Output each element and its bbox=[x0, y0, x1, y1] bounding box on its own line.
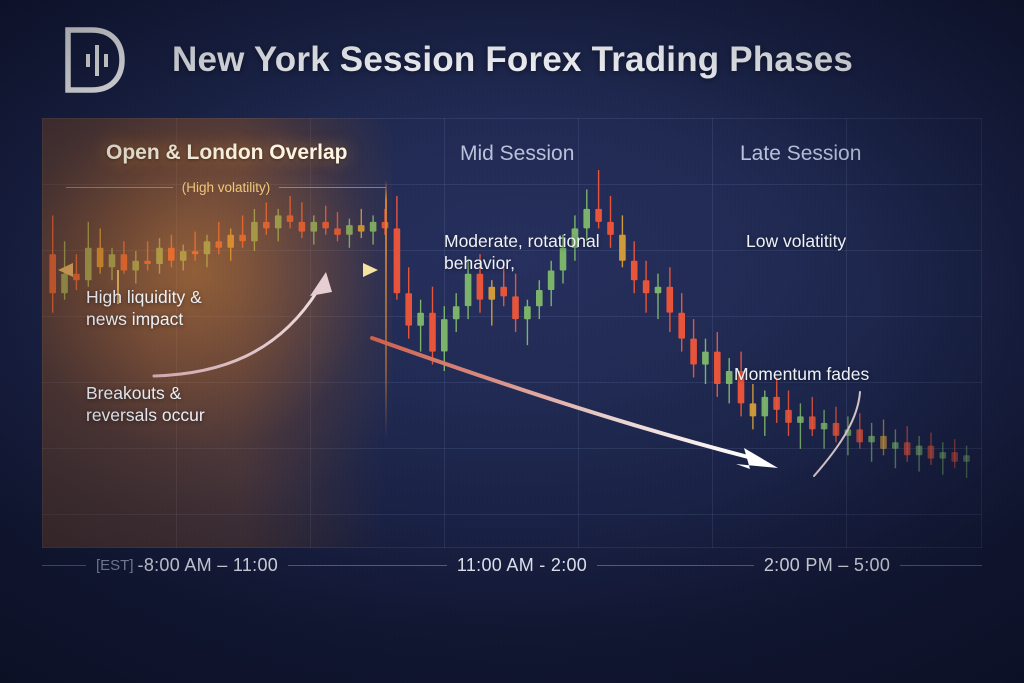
phase-title-late-session: Late Session bbox=[740, 142, 861, 166]
page-header: New York Session Forex Trading Phases bbox=[0, 0, 1024, 118]
phase-description-mid-session: Moderate, rotational behavior, bbox=[444, 230, 600, 275]
phase-description-late-session: Low volatitity bbox=[746, 230, 846, 252]
momentum-decline-arrow bbox=[370, 336, 790, 466]
momentum-fades-pointer bbox=[802, 390, 872, 480]
note-breakouts-reversals: Breakouts & reversals occur bbox=[86, 382, 205, 427]
page-title: New York Session Forex Trading Phases bbox=[172, 40, 853, 80]
timeline-label-open-london-overlap: -8:00 AM – 11:00 bbox=[138, 555, 279, 576]
phase-title-mid-session: Mid Session bbox=[460, 142, 574, 166]
timezone-tag: [EST] bbox=[96, 557, 134, 574]
timeline-segment-mid-session[interactable]: 11:00 AM - 2:00 bbox=[372, 548, 672, 582]
session-timeline: [EST] -8:00 AM – 11:00 11:00 AM - 2:00 2… bbox=[42, 548, 982, 582]
phase-subnote-high-volatility: (High volatility) bbox=[66, 180, 386, 195]
timeline-label-late-session: 2:00 PM – 5:00 bbox=[764, 555, 890, 576]
breakout-curved-arrow bbox=[150, 258, 390, 388]
chart-panel: Open & London Overlap (High volatility) … bbox=[42, 118, 982, 548]
phase-subnote-text: (High volatility) bbox=[182, 180, 271, 195]
time-range: 8:00 AM – 11:00 bbox=[144, 555, 278, 575]
annotation-momentum-fades: Momentum fades bbox=[734, 363, 869, 385]
phase-title-open-london-overlap: Open & London Overlap bbox=[106, 141, 348, 165]
timeline-segment-open-london-overlap[interactable]: [EST] -8:00 AM – 11:00 bbox=[42, 548, 372, 582]
timeline-label-mid-session: 11:00 AM - 2:00 bbox=[457, 555, 587, 576]
d-candlestick-logo bbox=[58, 24, 130, 96]
timeline-segment-late-session[interactable]: 2:00 PM – 5:00 bbox=[672, 548, 982, 582]
